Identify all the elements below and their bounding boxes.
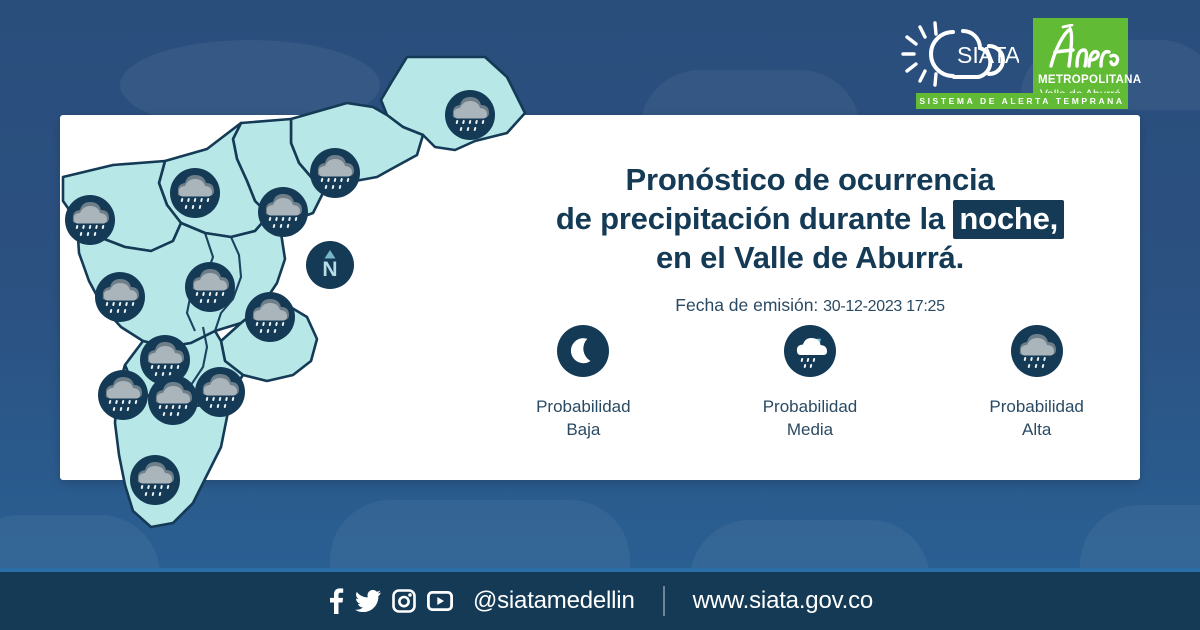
title-line-2: de precipitación durante la noche, (470, 199, 1150, 238)
legend-label-low: Probabilidad Baja (488, 395, 678, 441)
page-title: Pronóstico de ocurrencia de precipitació… (470, 160, 1150, 277)
amva-script-icon (1039, 24, 1123, 69)
legend-high-line2: Alta (942, 418, 1132, 441)
weather-marker[interactable] (95, 272, 145, 322)
compass-rose: N (306, 241, 354, 289)
social-icons (327, 588, 453, 614)
legend-medium-line1: Probabilidad (715, 395, 905, 418)
siata-logo[interactable]: SIATA (897, 18, 1019, 90)
legend-item-medium[interactable]: Probabilidad Media (715, 325, 905, 441)
footer-divider (663, 586, 665, 616)
legend-medium-line2: Media (715, 418, 905, 441)
cloud-rain-icon (1011, 325, 1063, 377)
legend-low-line1: Probabilidad (488, 395, 678, 418)
issue-date: Fecha de emisión: 30-12-2023 17:25 (470, 295, 1150, 316)
title-line-1: Pronóstico de ocurrencia (470, 160, 1150, 199)
title-highlight-noche: noche, (953, 200, 1064, 239)
legend-item-high[interactable]: Probabilidad Alta (942, 325, 1132, 441)
weather-marker[interactable] (98, 370, 148, 420)
weather-marker[interactable] (310, 148, 360, 198)
valle-de-aburra-map[interactable]: N (55, 55, 525, 575)
amva-line1: METROPOLITANA (1038, 74, 1123, 87)
legend-label-medium: Probabilidad Media (715, 395, 905, 441)
weather-marker[interactable] (170, 168, 220, 218)
weather-marker[interactable] (130, 455, 180, 505)
youtube-icon[interactable] (427, 591, 453, 611)
compass-label: N (322, 258, 337, 281)
siata-logo-text: SIATA (957, 42, 1019, 68)
title-line-2-text: de precipitación durante la (556, 201, 945, 236)
issue-date-label: Fecha de emisión: (675, 295, 818, 315)
legend-low-line2: Baja (488, 418, 678, 441)
cloud-moon-rain-icon (784, 325, 836, 377)
legend-label-high: Probabilidad Alta (942, 395, 1132, 441)
facebook-icon[interactable] (327, 588, 344, 614)
background-cloud (1080, 505, 1200, 575)
twitter-icon[interactable] (355, 590, 381, 612)
weather-marker[interactable] (65, 195, 115, 245)
social-handle[interactable]: @siatamedellin (473, 587, 635, 615)
legend-high-line1: Probabilidad (942, 395, 1132, 418)
weather-marker[interactable] (195, 367, 245, 417)
title-line-3: en el Valle de Aburrá. (470, 238, 1150, 277)
weather-marker[interactable] (445, 90, 495, 140)
legend-item-low[interactable]: Probabilidad Baja (488, 325, 678, 441)
instagram-icon[interactable] (392, 589, 416, 613)
website-url[interactable]: www.siata.gov.co (693, 587, 873, 615)
forecast-text-block: Pronóstico de ocurrencia de precipitació… (470, 160, 1150, 316)
moon-icon (557, 325, 609, 377)
weather-marker[interactable] (185, 262, 235, 312)
footer: @siatamedellin www.siata.gov.co (0, 572, 1200, 630)
weather-marker[interactable] (245, 292, 295, 342)
weather-marker[interactable] (258, 187, 308, 237)
issue-date-value: 30-12-2023 17:25 (823, 298, 945, 315)
tagline-bar: SISTEMA DE ALERTA TEMPRANA (916, 93, 1128, 109)
weather-marker[interactable] (148, 375, 198, 425)
probability-legend: Probabilidad Baja Probabilidad Media (470, 325, 1150, 441)
